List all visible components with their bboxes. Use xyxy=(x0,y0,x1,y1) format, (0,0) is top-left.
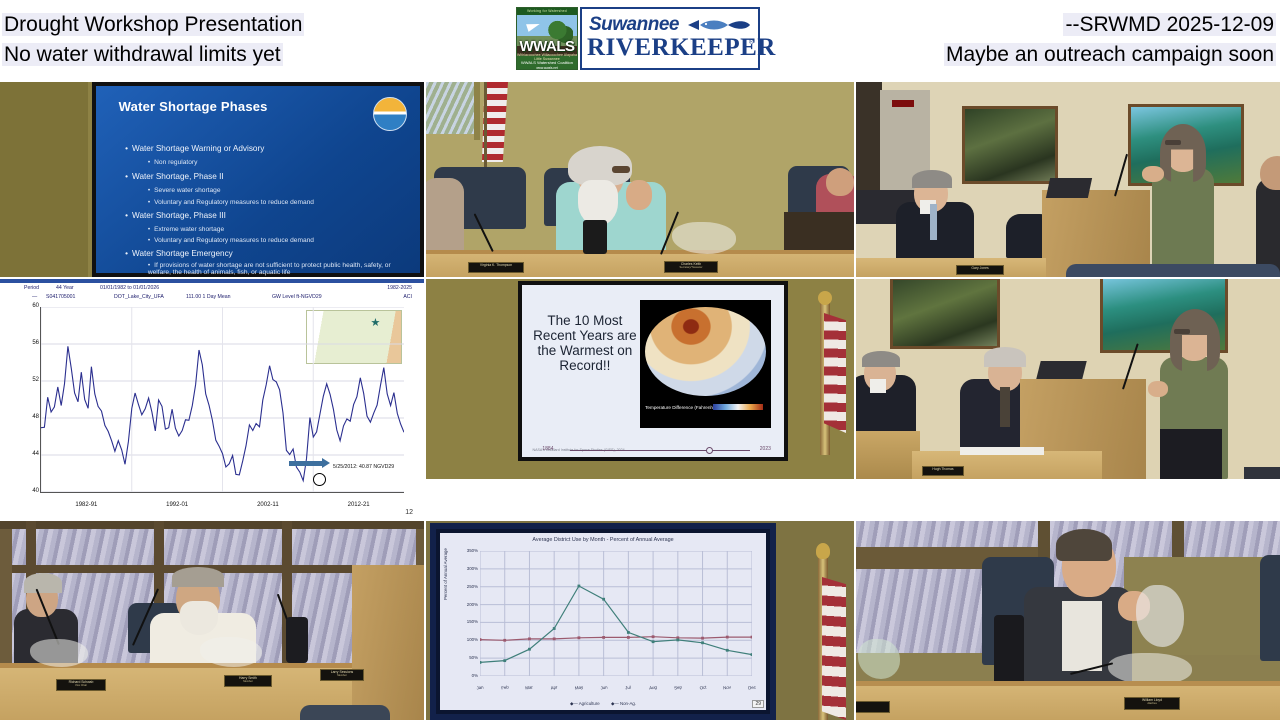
y-tick-44: 44 xyxy=(19,451,39,457)
member-left-hair xyxy=(862,351,900,367)
wwals-badge-icon: Working for Watershed Conservation WWALS… xyxy=(516,7,578,70)
slide-page-number: 12 xyxy=(405,509,413,516)
district-use-lines xyxy=(480,551,752,676)
snack-bag-left xyxy=(858,639,900,679)
nameplate-thompson-name: Virginia K. Thompson xyxy=(469,263,523,267)
audience-chairs xyxy=(1066,264,1280,277)
panel-board-member-speaking: Virginia K. Thompson Charles Keith Secre… xyxy=(426,82,854,277)
attendee-foreground-right xyxy=(1256,178,1280,277)
nameplate-schwab-title: Vice Chair xyxy=(57,684,105,688)
eyeglasses-icon xyxy=(612,166,630,173)
nameplate-sessions-title: Member xyxy=(321,674,363,678)
y-tick-0%: 0% xyxy=(452,673,478,678)
slide-bullet-3: Severe water shortage xyxy=(148,187,221,194)
flag-finial xyxy=(818,291,832,305)
header-right-captions: --SRWMD 2025-12-09 Maybe an outreach cam… xyxy=(756,10,1276,70)
dais-edge xyxy=(856,681,1280,686)
pitcher xyxy=(286,617,308,663)
y-tick-300%: 300% xyxy=(452,566,478,571)
globe-icon xyxy=(645,307,766,396)
dais-left-block xyxy=(856,431,920,479)
panel-speaker-at-podium-mid: Hugh Thomas xyxy=(856,279,1280,479)
legend-dash: — xyxy=(32,294,37,300)
header-left-captions: Drought Workshop Presentation No water w… xyxy=(2,10,472,70)
field-source: ACI xyxy=(403,294,412,300)
field-period-value: 44 Year xyxy=(56,285,74,291)
x-tick-May: May xyxy=(574,684,583,690)
y-tick-200%: 200% xyxy=(452,602,478,607)
window-head-trim xyxy=(0,521,424,529)
header-source-line: --SRWMD 2025-12-09 xyxy=(1063,13,1276,36)
exit-sign xyxy=(892,100,914,107)
nameplate-keith-title: Secretary/Treasurer xyxy=(665,266,717,270)
y-tick-56: 56 xyxy=(19,340,39,346)
member-center-hair xyxy=(984,347,1026,367)
y-tick-100%: 100% xyxy=(452,637,478,642)
field-site: DOT_Lake_City_UFA xyxy=(114,294,164,300)
flag-drape xyxy=(822,577,846,720)
room-scene: Gary Jones xyxy=(856,82,1280,277)
callout-circle-icon xyxy=(313,473,326,486)
year-slider-start: 1884 xyxy=(542,446,553,452)
screenshot-root: Drought Workshop Presentation No water w… xyxy=(0,0,1280,720)
nameplate-schwab: Richard Schwab Vice Chair xyxy=(56,679,106,691)
nameplate-top-right: Gary Jones xyxy=(956,265,1004,275)
dais-bench xyxy=(856,258,1046,277)
slide-bullet-2: Water Shortage, Phase II xyxy=(125,172,224,181)
chart-annotation: 5/25/2012: 40.87 NGVD29 xyxy=(333,464,394,470)
chart-plot-area: 0%50%100%150%200%250%300%350%JanFebMarAp… xyxy=(480,551,752,676)
y-tick-40: 40 xyxy=(19,488,39,494)
member-hair xyxy=(1056,529,1112,561)
nameplate-mid-right: Hugh Thomas xyxy=(922,466,964,476)
room-scene: Virginia K. Thompson Charles Keith Secre… xyxy=(426,82,854,277)
presenter-hand xyxy=(1148,381,1168,397)
nameplate-partial-left xyxy=(856,701,890,713)
x-tick-Jun: Jun xyxy=(600,685,608,691)
framed-photo-left xyxy=(962,106,1058,184)
nameplate-top-right-name: Gary Jones xyxy=(957,266,1003,270)
slide-title: Water Shortage Phases xyxy=(119,99,268,114)
member-shirt xyxy=(1062,601,1102,671)
x-tick-Sep: Sep xyxy=(674,684,682,690)
well-hydrograph: Period 44 Year 01/01/1982 to 01/01/2026 … xyxy=(10,283,414,519)
panel-slide-warmest-years: The 10 Most Recent Years are the Warmest… xyxy=(426,279,854,479)
field-year-range: 1982-2025 xyxy=(387,285,412,291)
member-center-tie xyxy=(1000,387,1010,427)
chart-ylabel: Percent of Annual Average xyxy=(443,548,448,600)
slide-bullet-7: Voluntary and Regulatory measures to red… xyxy=(148,237,314,244)
field-date-range: 01/01/1982 to 01/01/2026 xyxy=(100,285,159,291)
slide-page-number: 29 xyxy=(752,700,764,708)
necktie xyxy=(930,204,937,240)
podium xyxy=(352,565,424,720)
y-tick-60: 60 xyxy=(19,303,39,309)
x-tick-Apr: Apr xyxy=(550,685,557,691)
x-tick-Jul: Jul xyxy=(625,685,631,691)
window-frame xyxy=(474,82,480,140)
registered-mark: ® xyxy=(749,39,754,46)
speaker-hand xyxy=(626,180,652,210)
header-note-line: Maybe an outreach campaign soon xyxy=(944,43,1276,66)
nameplate-sessions: Larry Sessions Member xyxy=(320,669,364,681)
wwals-badge-top-text: Working for Watershed Conservation xyxy=(517,8,577,15)
temperature-colorbar xyxy=(713,404,763,410)
nameplate-smith: Harry Smith Member xyxy=(224,675,272,687)
y-tick-150%: 150% xyxy=(452,619,478,624)
papers xyxy=(960,447,1044,455)
wwals-suwannee-riverkeeper-logo: Working for Watershed Conservation WWALS… xyxy=(516,7,760,70)
year-slider[interactable]: 1884 2023 xyxy=(538,446,771,454)
average-district-use-chart: Average District Use by Month - Percent … xyxy=(440,533,766,710)
presenter-torso xyxy=(1152,168,1214,277)
callout-arrow-icon xyxy=(289,461,323,466)
chart-plot-area: ★ 5/25/2012: 40.87 NGVD29 40444852566019… xyxy=(40,307,404,493)
attendee-foreground-head xyxy=(1260,156,1280,190)
panel-well-hydrograph-chart: Period 44 Year 01/01/1982 to 01/01/2026 … xyxy=(0,279,424,519)
slide-headline: The 10 Most Recent Years are the Warmest… xyxy=(532,313,637,373)
y-tick-250%: 250% xyxy=(452,584,478,589)
member-left-hair xyxy=(24,573,62,593)
x-tick-Jan: Jan xyxy=(476,685,484,691)
slide-bullet-8: Water Shortage Emergency xyxy=(125,249,233,258)
nameplate-mid-right-name: Hugh Thomas xyxy=(923,467,963,471)
slide-warmest-years: The 10 Most Recent Years are the Warmest… xyxy=(522,285,784,457)
slide-bullet-6: Extreme water shortage xyxy=(148,226,224,233)
header-title-line1: Drought Workshop Presentation xyxy=(2,13,304,36)
legend-item-non-ag: ◆— Non-Ag. xyxy=(611,701,636,706)
presenter-glasses-icon xyxy=(1174,329,1190,334)
presenter-hand xyxy=(1142,166,1164,182)
nameplate-lloyd-title: Alachua xyxy=(1125,702,1179,706)
wall-tv-display: The 10 Most Recent Years are the Warmest… xyxy=(518,281,788,461)
attendee-right-head xyxy=(826,168,854,196)
panel-speaker-at-podium-top: Gary Jones xyxy=(856,82,1280,277)
slide-bullet-0: Water Shortage Warning or Advisory xyxy=(125,144,264,153)
flag-pole xyxy=(484,82,487,172)
nameplate-smith-title: Member xyxy=(225,680,271,684)
x-tick-1982-91: 1982-91 xyxy=(75,502,97,508)
nameplate-thompson: Virginia K. Thompson xyxy=(468,262,524,273)
slide-bullet-5: Water Shortage, Phase III xyxy=(125,211,226,220)
x-tick-Oct: Oct xyxy=(699,685,706,691)
dais-right-block xyxy=(784,212,854,250)
page-header: Drought Workshop Presentation No water w… xyxy=(0,0,1280,82)
nameplate-keith: Charles Keith Secretary/Treasurer xyxy=(664,261,718,273)
y-tick-350%: 350% xyxy=(452,548,478,553)
year-slider-end: 2023 xyxy=(760,446,771,452)
field-station: S041705001 xyxy=(46,294,75,300)
panel-board-bottom-right: William Lloyd Alachua xyxy=(856,521,1280,720)
panel-slide-water-shortage-phases: Water Shortage Phases Water Shortage War… xyxy=(0,82,424,277)
wall-tv-display: Average District Use by Month - Percent … xyxy=(430,523,776,720)
riverkeeper-word-suwannee: Suwannee xyxy=(589,14,679,36)
year-slider-knob[interactable] xyxy=(706,447,713,454)
wall-tv-display: Water Shortage Phases Water Shortage War… xyxy=(92,82,424,277)
x-tick-Aug: Aug xyxy=(649,684,657,690)
field-measure: GW Level ft-NGVD29 xyxy=(272,294,322,300)
audience-chair xyxy=(1244,467,1280,479)
conference-phone xyxy=(583,220,607,254)
dais-bench xyxy=(856,681,1280,720)
bird-icon xyxy=(526,20,541,32)
riverkeeper-wordmark-box: Suwannee RIVERKEEPER ® xyxy=(580,7,760,70)
field-period-label: Period xyxy=(24,285,39,291)
legend-item-agriculture: ◆— Agriculture xyxy=(570,701,600,706)
srwmd-logo-icon xyxy=(373,97,407,131)
header-title-line2: No water withdrawal limits yet xyxy=(2,43,283,66)
slide-bullet-4: Voluntary and Regulatory measures to red… xyxy=(148,199,314,206)
member-left-beard xyxy=(870,379,886,393)
presenter-glasses-icon xyxy=(1165,140,1181,145)
chart-header-fields: Period 44 Year 01/01/1982 to 01/01/2026 … xyxy=(10,283,414,305)
global-temperature-map: Temperature Difference (Fahrenheit) xyxy=(640,300,771,427)
x-tick-Mar: Mar xyxy=(525,684,533,690)
chart-title: Average District Use by Month - Percent … xyxy=(440,537,766,543)
field-series-note: 111.00 1 Day Mean xyxy=(186,294,231,300)
member-center-hair xyxy=(172,567,224,587)
slide-bullet-1: Non regulatory xyxy=(148,159,198,166)
framed-photo-left xyxy=(890,279,1000,349)
doorway xyxy=(856,82,882,202)
dais-edge xyxy=(426,250,854,254)
presenter-trousers xyxy=(1160,429,1222,479)
room-scene: Hugh Thomas xyxy=(856,279,1280,479)
room-scene: Water Shortage Phases Water Shortage War… xyxy=(0,82,424,277)
y-tick-48: 48 xyxy=(19,414,39,420)
chart-legend: ◆— Agriculture ◆— Non-Ag. xyxy=(440,701,766,707)
audience-chair xyxy=(300,705,390,720)
x-tick-1992-01: 1992-01 xyxy=(166,502,188,508)
wwals-badge-sub3: www.wwals.net xyxy=(517,66,577,70)
nameplate-partial-left-name xyxy=(856,702,889,706)
wwals-badge-sub2: WWALS Watershed Coalition xyxy=(517,60,577,65)
panel-slide-average-district-use: Average District Use by Month - Percent … xyxy=(426,521,854,720)
flag-finial xyxy=(816,543,830,559)
seated-member-hair xyxy=(912,170,952,188)
window-foliage xyxy=(426,82,476,134)
x-tick-2002-11: 2002-11 xyxy=(257,502,279,508)
x-tick-Dec: Dec xyxy=(748,684,756,690)
slide-bullet-9: If provisions of water shortage are not … xyxy=(148,262,407,276)
wall-shadow xyxy=(0,82,88,277)
member-center-beard xyxy=(180,601,218,635)
fish-icon xyxy=(686,18,752,33)
podium-laptop xyxy=(1046,178,1092,198)
chair-right xyxy=(1260,555,1280,661)
year-slider-track[interactable] xyxy=(570,450,750,452)
slide-water-shortage-phases: Water Shortage Phases Water Shortage War… xyxy=(96,86,420,273)
flag-drape xyxy=(824,313,846,433)
riverkeeper-word-riverkeeper: RIVERKEEPER xyxy=(587,35,776,61)
nameplate-lloyd: William Lloyd Alachua xyxy=(1124,697,1180,710)
x-tick-Feb: Feb xyxy=(501,684,509,690)
globe-caption: Temperature Difference (Fahrenheit) xyxy=(645,405,719,410)
y-tick-52: 52 xyxy=(19,377,39,383)
x-tick-2012-21: 2012-21 xyxy=(348,502,370,508)
pitcher xyxy=(994,615,1024,687)
panel-board-bottom-left: Richard Schwab Vice Chair Harry Smith Me… xyxy=(0,521,424,720)
x-tick-Nov: Nov xyxy=(723,684,731,690)
room-scene: William Lloyd Alachua xyxy=(856,521,1280,720)
room-scene: Richard Schwab Vice Chair Harry Smith Me… xyxy=(0,521,424,720)
y-tick-50%: 50% xyxy=(452,655,478,660)
